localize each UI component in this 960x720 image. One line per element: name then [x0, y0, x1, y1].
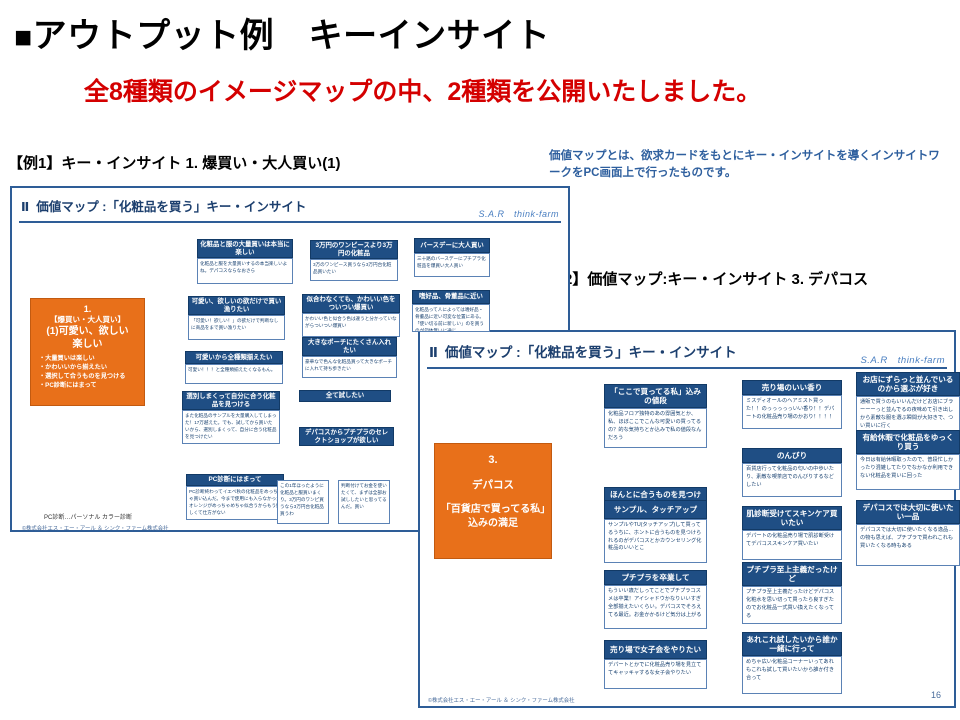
slide1-node-header: PC診断にはまって: [186, 474, 284, 486]
slide1-node-body: 可愛い！！！と全種類揃えたくなるもん。: [185, 364, 283, 384]
slide1-center-line3: (1)可愛い、欲しい: [34, 325, 141, 338]
slide1-node-body: この1年ほったように化粧品と服買いまくり。3万円のワンピ買うなら3万円台化粧品買…: [277, 480, 329, 524]
slide1-node-body: 化粧品って人によっては嗜好品・骨董品に近い可変な位置にある。「使い切る前に新しい…: [412, 304, 490, 332]
slide2-node[interactable]: 売り場で女子会をやりたいデパートとかでに化粧品売り場を見立ててキャッキャするな女…: [604, 640, 707, 689]
page-title-text: アウトプット例 キーインサイト: [33, 17, 551, 55]
slide1-node[interactable]: 似合わなくても、かわいい色をついつい爆買いかわいい色と似合う色は違うと分かってい…: [302, 294, 400, 337]
slide2-node[interactable]: 「ここで買ってる私」込みの値段化粧品フロア独特のあの雰囲気とか、私、ほぼここでこ…: [604, 384, 707, 448]
slide1-node[interactable]: 大きなポーチにたくさん入れたい豪華なで色んな化粧品買って大きなポーチに入れて持ち…: [302, 337, 397, 378]
slide2-node-body: デパートとかでに化粧品売り場を見立ててキャッキャするな女子会やりたい: [604, 659, 707, 689]
slide1-node-body: 化粧品と服を大量買いするの本当楽しいよね。デパコスならなおさら: [197, 258, 293, 284]
slide2-node[interactable]: お店にずらっと並んでいるのから選ぶが好き通販で買うのもいいんだけどお店にブラーー…: [856, 372, 960, 436]
slide1-node-body: 判断付けてお金を使いたくて、まずは全部お試ししたいと思ってるんだ。買い: [338, 480, 390, 524]
slide2-node[interactable]: 肌診断受けてスキンケア買いたいデパートの化粧品売り場で肌診断受けてデパコススキン…: [742, 506, 842, 560]
slide2-node-header: 有給休暇で化粧品をゆっくり買う: [856, 430, 960, 454]
slide2-node[interactable]: デパコスでは大切に使いたい一品デパコスでは大切に使いたくなる逸品…の物も思えば、…: [856, 500, 960, 566]
slide1-node[interactable]: 化粧品と服の大量買いは本当に楽しい化粧品と服を大量買いするの本当楽しいよね。デパ…: [197, 239, 293, 284]
slide1-node-header: 嗜好品、骨董品に近い: [412, 290, 490, 304]
slide2-node-header: のんびり: [742, 448, 842, 463]
slide1-node-header: バースデーに大人買い: [414, 238, 490, 253]
slide1-node-header: 選別しまくって自分に合う化粧品を見つける: [182, 391, 280, 410]
slide2-node-body: 百貨店行って化粧品の匂いの中歩いたり、素敵な喫茶店でのんびりするなどしたい: [742, 463, 842, 497]
slide2-center-line3: 「百貨店で買ってる私」込みの満足: [439, 503, 547, 530]
slide2-center-node[interactable]: 3. デパコス 「百貨店で買ってる私」込みの満足: [434, 443, 552, 559]
slide2-header-text: 価値マップ :「化粧品を買う」キー・インサイト: [445, 345, 737, 360]
slide1-node-body: 豪華なで色んな化粧品買って大きなポーチに入れて持ち歩きたい: [302, 356, 397, 378]
slide1-node-body: 3万のワンピース買うなら3万円台化粧品買いたい: [310, 259, 398, 281]
page-subtitle: 全8種類のイメージマップの中、2種類を公開いたしました。: [84, 72, 761, 108]
slide1-node-header: 似合わなくても、かわいい色をついつい爆買い: [302, 294, 400, 313]
slide1-node[interactable]: 選別しまくって自分に合う化粧品を見つけるまた化粧品のサンプルを大量購入してしまっ…: [182, 391, 280, 444]
slide1-node-header: 可愛い、欲しいの欲だけで買い漁りたい: [188, 296, 285, 315]
slide1-center-line4: 楽しい: [34, 338, 141, 351]
slide1-center-bullets: ・大量買いは楽しい ・かわいいから揃えたい ・選択して合うものを見つける ・PC…: [34, 355, 141, 391]
slide2-node-body: プチプラ至上主義だったけどデパコス化粧水を思い切って買ったら良すぎたのでお化粧品…: [742, 586, 842, 624]
slide1-node-body: また化粧品のサンプルを大量購入してしまった！17万越えた。でも、試してから買いた…: [182, 410, 280, 444]
slide1-node[interactable]: 全て試したい: [299, 390, 391, 402]
slide1-header-number: Ⅱ: [21, 200, 29, 214]
slide2-node-body: 化粧品フロア独特のあの雰囲気とか、私、ほぼここでこんな可愛いの買ってるの？的な気…: [604, 408, 707, 448]
example2-label: 【例2】価値マップ:キー・インサイト 3. デパコス: [534, 268, 868, 289]
title-square-marker: ■: [14, 21, 33, 54]
slide1-node[interactable]: デパコスからプチプラのセレクトショップが欲しい: [299, 427, 394, 446]
slide2-node[interactable]: 有給休暇で化粧品をゆっくり買う今日は有給休暇取ったので、普段忙しかったり混雑して…: [856, 430, 960, 490]
explanatory-note: 価値マップとは、欲求カードをもとにキー・インサイトを導くインサイトワークをPC画…: [549, 148, 949, 181]
slide1-node-body: PC診断終わってイエベ秋の化粧品をめっちゃ買い込んだ。今まで使用にも入らなかった…: [186, 486, 284, 520]
slide2-header-number: Ⅱ: [429, 345, 438, 360]
slide2-node-header: プチプラを卒業して: [604, 570, 707, 585]
slide2-node-header: デパコスでは大切に使いたい一品: [856, 500, 960, 524]
slide2-page-number: 16: [931, 690, 941, 700]
slide1-node[interactable]: 判断付けてお金を使いたくて、まずは全部お試ししたいと思ってるんだ。買い: [338, 480, 390, 524]
slide2-node-header: プチプラ至上主義だったけど: [742, 562, 842, 586]
slide1-node-header: 3万円のワンピースより3万円の化粧品: [310, 240, 398, 259]
slide2-brand-logo: S.A.R think-farm: [860, 352, 945, 366]
slide1-node-header: 化粧品と服の大量買いは本当に楽しい: [197, 239, 293, 258]
slide2-node-body: めちゃ広い化粧品コーナーいってあれもこれも試して買いたいから誰か付き合って: [742, 656, 842, 694]
slide1-header-text: 価値マップ :「化粧品を買う」キー・インサイト: [36, 200, 306, 214]
slide1-center-line1: 1.: [34, 304, 141, 315]
slide2-node-header: お店にずらっと並んでいるのから選ぶが好き: [856, 372, 960, 396]
slide1-header: Ⅱ価値マップ :「化粧品を買う」キー・インサイト S.A.R think-far…: [19, 193, 561, 223]
slide1-node-header: デパコスからプチプラのセレクトショップが欲しい: [299, 427, 394, 446]
slide2-center-line2: デパコス: [439, 477, 547, 492]
slide1-footnote: PC診断…パーソナル カラー診断: [44, 512, 132, 521]
slide2-node-header: 売り場のいい香り: [742, 380, 842, 395]
slide2-node[interactable]: のんびり百貨店行って化粧品の匂いの中歩いたり、素敵な喫茶店でのんびりするなどした…: [742, 448, 842, 497]
slide2-node-header: あれこれ試したいから誰か一緒に行って: [742, 632, 842, 656]
slide1-node-header: 可愛いから全種類揃えたい: [185, 351, 283, 364]
slide2-node-body: デパートの化粧品売り場で肌診断受けてデパコススキンケア買いたい: [742, 530, 842, 560]
slide2-node[interactable]: プチプラ至上主義だったけどプチプラ至上主義だったけどデパコス化粧水を思い切って買…: [742, 562, 842, 624]
slide1-node[interactable]: この1年ほったように化粧品と服買いまくり。3万円のワンピ買うなら3万円台化粧品買…: [277, 480, 329, 524]
slide1-title: Ⅱ価値マップ :「化粧品を買う」キー・インサイト: [21, 196, 306, 215]
slide2-copyright: ©株式会社エス・エー・アール ＆ シンク・ファーム株式会社: [428, 696, 575, 704]
slide1-node[interactable]: PC診断にはまってPC診断終わってイエベ秋の化粧品をめっちゃ買い込んだ。今まで使…: [186, 474, 284, 520]
slide2-center-line1: 3.: [439, 454, 547, 466]
slide2-node[interactable]: サンプル、タッチアップサンプルやTU(タッチアップ)して買ってるうちに、ホントに…: [604, 500, 707, 563]
slide2-node[interactable]: 売り場のいい香りミスディオールのヘアミスト買った！！のっっっっっいい香り！！デパ…: [742, 380, 842, 429]
slide1-brand-logo: S.A.R think-farm: [478, 207, 559, 220]
slide1-node-body: かわいい色と似合う色は違うと分かっていながらついつい爆買い: [302, 313, 400, 337]
slide1-node[interactable]: 嗜好品、骨董品に近い化粧品って人によっては嗜好品・骨董品に近い可変な位置にある。…: [412, 290, 490, 332]
page-title: ■アウトプット例 キーインサイト: [14, 8, 550, 57]
slide2-node-header: 「ここで買ってる私」込みの値段: [604, 384, 707, 408]
slide2-node-body: ミスディオールのヘアミスト買った！！のっっっっっいい香り！！デパートの化粧品売り…: [742, 395, 842, 429]
slide1-copyright: ©株式会社エス・エー・アール ＆ シンク・ファーム株式会社: [22, 524, 169, 532]
slide2-node-header: 肌診断受けてスキンケア買いたい: [742, 506, 842, 530]
slide2-node-body: もういい歳だしってことでプチプラコスメは卒業！アイシャドウかなりいいすぎ全部揃え…: [604, 585, 707, 629]
slide2-node[interactable]: あれこれ試したいから誰か一緒に行ってめちゃ広い化粧品コーナーいってあれもこれも試…: [742, 632, 842, 694]
slide1-node-body: 「可愛い！欲しい！」の欲だけで判断なしに商品をまで買い漁りたい: [188, 315, 285, 340]
slide1-node[interactable]: 可愛い、欲しいの欲だけで買い漁りたい「可愛い！欲しい！」の欲だけで判断なしに商品…: [188, 296, 285, 340]
slide1-center-line2: 【爆買い・大人買い】: [34, 315, 141, 325]
slide2-node-header: サンプル、タッチアップ: [604, 500, 707, 519]
slide1-center-node[interactable]: 1. 【爆買い・大人買い】 (1)可愛い、欲しい 楽しい ・大量買いは楽しい ・…: [30, 298, 145, 406]
example1-label: 【例1】キー・インサイト 1. 爆買い・大人買い(1): [8, 152, 341, 173]
slide2-header: Ⅱ価値マップ :「化粧品を買う」キー・インサイト S.A.R think-far…: [427, 337, 947, 369]
slide2-node-body: 今日は有給休暇取ったので、普段忙しかったり混雑してたりでなかなか利用できない化粧…: [856, 454, 960, 490]
slide1-node-header: 大きなポーチにたくさん入れたい: [302, 337, 397, 356]
slide1-node[interactable]: バースデーに大人買い三十路のバースデーにプチプラ化粧品を爆買い大人買い: [414, 238, 490, 277]
slide2-node-body: デパコスでは大切に使いたくなる逸品…の物も思えば、プチプラで買われこれも買いたく…: [856, 524, 960, 566]
slide1-node[interactable]: 3万円のワンピースより3万円の化粧品3万のワンピース買うなら3万円台化粧品買いた…: [310, 240, 398, 281]
slide1-node-header: 全て試したい: [299, 390, 391, 402]
slide1-node-body: 三十路のバースデーにプチプラ化粧品を爆買い大人買い: [414, 253, 490, 277]
slide2-node[interactable]: プチプラを卒業してもういい歳だしってことでプチプラコスメは卒業！アイシャドウかな…: [604, 570, 707, 629]
slide2-title: Ⅱ価値マップ :「化粧品を買う」キー・インサイト: [429, 341, 737, 361]
slide2-node-header: 売り場で女子会をやりたい: [604, 640, 707, 659]
slide2-node-body: サンプルやTU(タッチアップ)して買ってるうちに、ホントに合うものを見つけられる…: [604, 519, 707, 563]
slide1-node[interactable]: 可愛いから全種類揃えたい可愛い！！！と全種類揃えたくなるもん。: [185, 351, 283, 384]
